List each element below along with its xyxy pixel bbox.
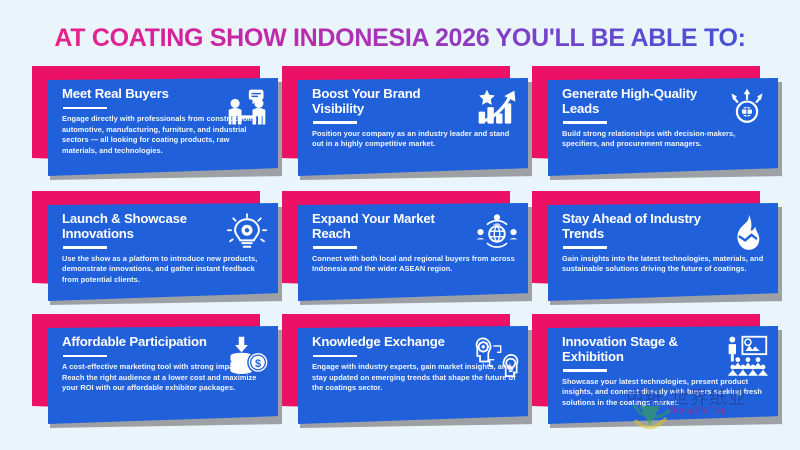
card-divider xyxy=(313,355,357,357)
card-divider xyxy=(313,121,357,123)
benefit-card-2[interactable]: Boost Your Brand Visibility Position you… xyxy=(282,66,532,184)
card-title: Generate High-Quality Leads xyxy=(562,87,712,116)
card-surface[interactable]: Meet Real Buyers Engage directly with pr… xyxy=(48,78,278,176)
card-title: Launch & Showcase Innovations xyxy=(62,212,212,241)
card-title: Stay Ahead of Industry Trends xyxy=(562,212,712,241)
benefit-card-3[interactable]: Generate High-Quality Leads Build strong… xyxy=(532,66,782,184)
benefit-card-8[interactable]: Knowledge Exchange Engage with industry … xyxy=(282,314,532,432)
card-surface[interactable]: Boost Your Brand Visibility Position you… xyxy=(298,78,528,176)
benefit-card-6[interactable]: Stay Ahead of Industry Trends Gain insig… xyxy=(532,191,782,309)
card-title: Affordable Participation xyxy=(62,335,212,350)
watermark-subtext: ZhongZhi.Top xyxy=(668,406,727,415)
card-divider xyxy=(563,369,607,371)
card-surface[interactable]: Stay Ahead of Industry Trends Gain insig… xyxy=(548,203,778,301)
card-body: A cost-effective marketing tool with str… xyxy=(62,362,266,394)
card-divider xyxy=(63,355,107,357)
page-title: AT COATING SHOW INDONESIA 2026 YOU'LL BE… xyxy=(54,24,745,53)
card-divider xyxy=(563,246,607,248)
card-divider xyxy=(563,121,607,123)
card-title: Expand Your Market Reach xyxy=(312,212,462,241)
page-title-container: AT COATING SHOW INDONESIA 2026 YOU'LL BE… xyxy=(0,24,800,53)
presenter-audience-board-icon xyxy=(725,335,769,377)
card-surface[interactable]: Launch & Showcase Innovations Use the sh… xyxy=(48,203,278,301)
card-body: Position your company as an industry lea… xyxy=(312,129,516,150)
target-lightbulb-arrows-icon xyxy=(725,87,769,129)
card-divider xyxy=(63,246,107,248)
card-body: Engage with industry experts, gain marke… xyxy=(312,362,516,394)
card-body: Connect with both local and regional buy… xyxy=(312,254,516,275)
benefit-card-7[interactable]: Affordable Participation A cost-effectiv… xyxy=(32,314,282,432)
card-title: Boost Your Brand Visibility xyxy=(312,87,462,116)
globe-network-people-icon xyxy=(475,212,519,254)
card-surface[interactable]: Expand Your Market Reach Connect with bo… xyxy=(298,203,528,301)
card-surface[interactable]: Knowledge Exchange Engage with industry … xyxy=(298,326,528,424)
card-surface[interactable]: Affordable Participation A cost-effectiv… xyxy=(48,326,278,424)
card-body: Use the show as a platform to introduce … xyxy=(62,254,266,286)
card-title: Innovation Stage & Exhibition xyxy=(562,335,712,364)
benefit-card-1[interactable]: Meet Real Buyers Engage directly with pr… xyxy=(32,66,282,184)
card-body: Build strong relationships with decision… xyxy=(562,129,766,150)
watermark: 中纸-世界纸业 ZhongZhi.Top xyxy=(620,382,800,444)
card-divider xyxy=(313,246,357,248)
leaf-logo-icon xyxy=(630,396,676,436)
card-body: Engage directly with professionals from … xyxy=(62,114,266,156)
benefit-card-5[interactable]: Expand Your Market Reach Connect with bo… xyxy=(282,191,532,309)
card-title: Meet Real Buyers xyxy=(62,87,212,102)
flame-trend-icon xyxy=(725,212,769,254)
card-body: Gain insights into the latest technologi… xyxy=(562,254,766,275)
bar-chart-arrow-star-icon xyxy=(475,87,519,129)
card-title: Knowledge Exchange xyxy=(312,335,462,350)
card-divider xyxy=(63,107,107,109)
lightbulb-gear-icon xyxy=(225,212,269,254)
card-surface[interactable]: Generate High-Quality Leads Build strong… xyxy=(548,78,778,176)
benefit-card-4[interactable]: Launch & Showcase Innovations Use the sh… xyxy=(32,191,282,309)
